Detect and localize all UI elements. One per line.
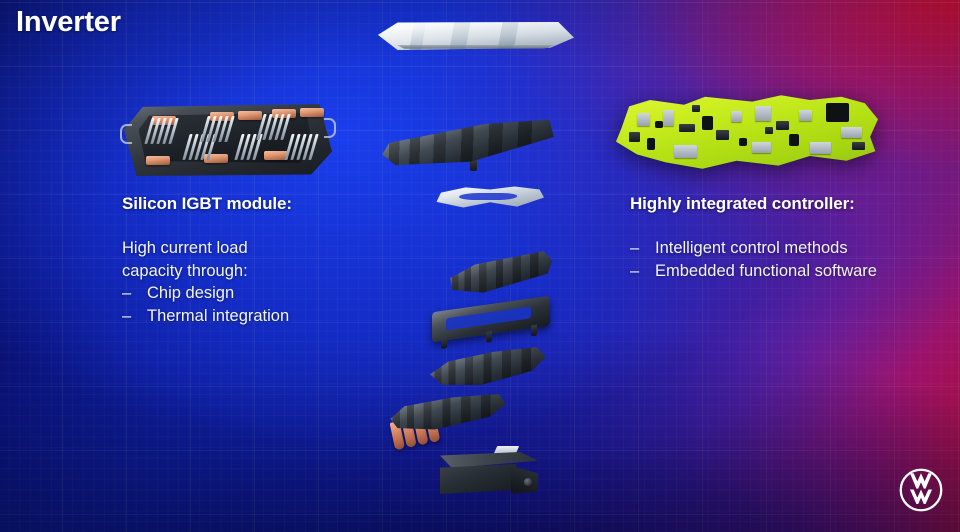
bullet-dash-icon: – <box>122 305 147 328</box>
housing-frame-b <box>432 296 550 343</box>
bullet-dash-icon: – <box>630 260 655 283</box>
igbt-clamp <box>120 124 132 144</box>
pcb-component <box>739 138 747 146</box>
pcb-component <box>679 124 695 132</box>
pcb-processor <box>826 103 850 122</box>
controller-circuit-board <box>616 92 878 172</box>
volkswagen-logo <box>898 467 944 518</box>
cover-plate-edge <box>382 45 570 49</box>
pcb-component <box>731 111 741 122</box>
controller-bullet-label: Embedded functional software <box>655 260 877 283</box>
pcb-component <box>655 121 663 128</box>
housing-frame-a <box>448 250 552 298</box>
igbt-heading: Silicon IGBT module: <box>122 194 292 214</box>
controller-heading: Highly integrated controller: <box>630 194 877 214</box>
controller-bullet: – Intelligent control methods <box>630 237 877 260</box>
pcb-component <box>755 106 771 120</box>
pcb-component <box>692 105 700 112</box>
igbt-terminal <box>300 108 324 117</box>
pcb-component <box>637 113 650 126</box>
igbt-pin-group <box>258 114 288 140</box>
controller-bullet-label: Intelligent control methods <box>655 237 848 260</box>
bullet-dash-icon: – <box>122 282 147 305</box>
controller-body: – Intelligent control methods – Embedded… <box>630 237 877 282</box>
housing-front-face <box>440 464 516 494</box>
igbt-pin-group <box>286 134 316 160</box>
igbt-line: High current load <box>122 237 292 260</box>
pcb-component <box>629 132 639 142</box>
bottom-housing-block <box>440 452 538 494</box>
pcb-component <box>765 127 773 134</box>
igbt-bullet: – Chip design <box>122 282 292 305</box>
pcb-component <box>789 134 799 147</box>
bullet-dash-icon: – <box>630 237 655 260</box>
pcb-component <box>752 142 770 153</box>
frame-b-post <box>486 331 492 343</box>
silicon-igbt-power-module <box>124 104 332 176</box>
page-title: Inverter <box>16 6 121 39</box>
pcb-component <box>674 145 698 158</box>
pcb-component <box>702 116 712 130</box>
igbt-body: High current load capacity through: – Ch… <box>122 237 292 327</box>
igbt-pin-group <box>146 118 176 144</box>
text-block-igbt: Silicon IGBT module: High current load c… <box>122 194 292 327</box>
igbt-terminal <box>146 156 170 165</box>
igbt-line: capacity through: <box>122 260 292 283</box>
gasket-seal-ring <box>432 186 544 208</box>
igbt-clamp <box>324 118 336 138</box>
igbt-bullet: – Thermal integration <box>122 305 292 328</box>
frame-b-post <box>441 337 447 349</box>
pcb-component <box>852 142 865 150</box>
frame-b-post <box>531 325 537 337</box>
pcb-component <box>776 121 789 131</box>
pcb-component <box>716 130 729 140</box>
gasket-aperture <box>457 193 519 200</box>
aluminium-cover-plate <box>378 22 574 50</box>
upper-casting-frame <box>381 115 554 172</box>
igbt-bullet-label: Thermal integration <box>147 305 289 328</box>
housing-frame-c <box>430 344 546 392</box>
pcb-component <box>663 110 673 126</box>
igbt-bullet-label: Chip design <box>147 282 234 305</box>
presentation-slide: Inverter Silicon IGBT module: High curre… <box>0 0 960 532</box>
pcb-component <box>799 110 812 121</box>
controller-bullet: – Embedded functional software <box>630 260 877 283</box>
pcb-component <box>841 127 862 138</box>
pcb-component <box>647 138 655 149</box>
igbt-pin-group <box>202 116 232 142</box>
text-block-controller: Highly integrated controller: – Intellig… <box>630 194 877 282</box>
pcb-component <box>810 142 831 154</box>
